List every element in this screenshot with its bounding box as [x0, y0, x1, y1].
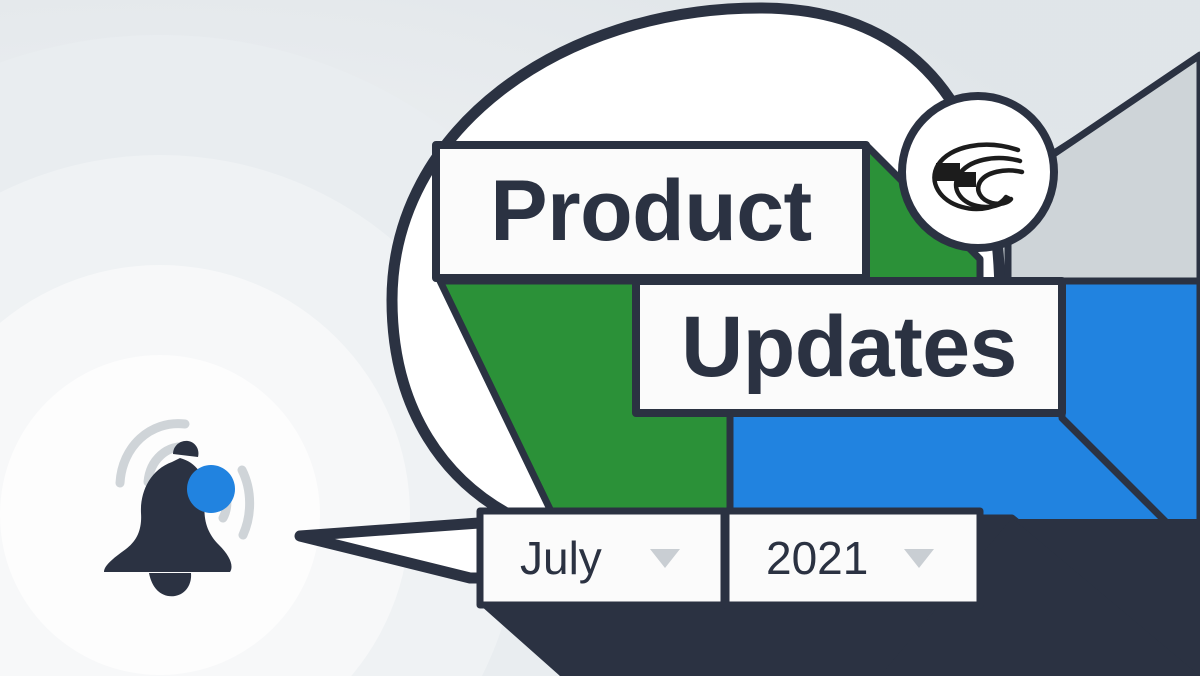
month-dropdown[interactable]: July — [480, 511, 724, 605]
year-dropdown[interactable]: 2021 — [726, 511, 980, 605]
month-dropdown-value: July — [480, 531, 602, 585]
chevron-down-icon[interactable] — [650, 549, 680, 568]
page-title-line-2: Updates — [636, 281, 1062, 413]
product-updates-banner: Product Updates July 2021 — [0, 0, 1200, 676]
notification-dot — [187, 465, 235, 513]
logo-badge — [902, 96, 1054, 248]
year-dropdown-value: 2021 — [726, 531, 868, 585]
chevron-down-icon[interactable] — [904, 549, 934, 568]
page-title-line-1: Product — [436, 145, 866, 278]
